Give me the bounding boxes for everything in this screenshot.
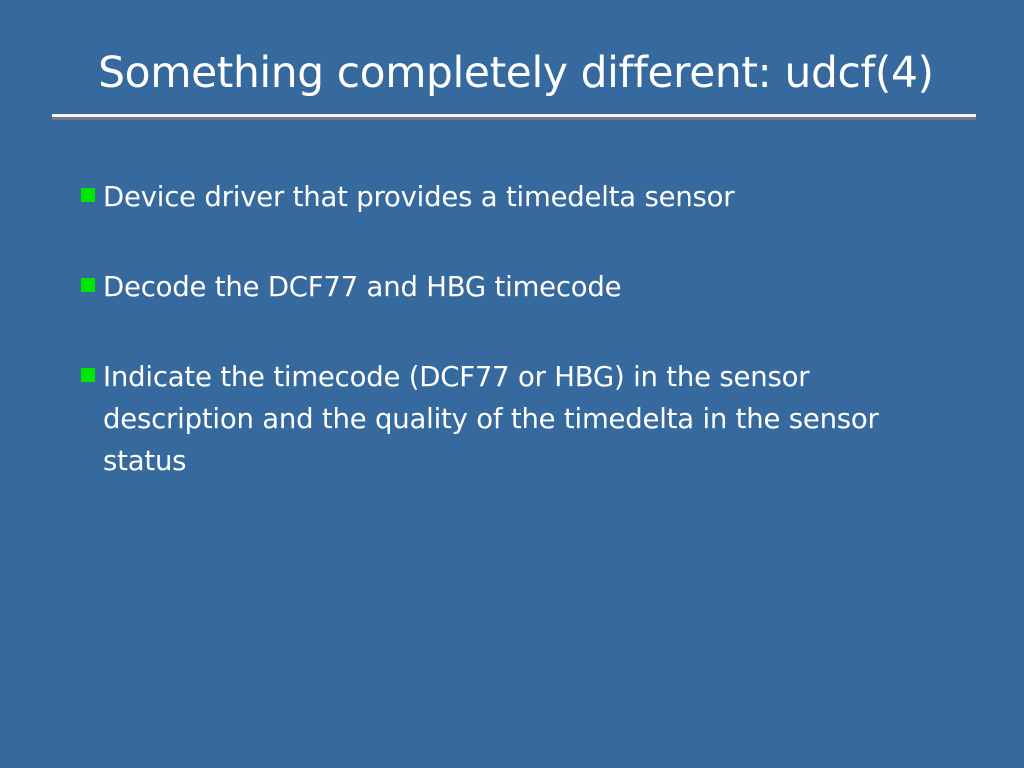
title-rule-shadow: [52, 117, 976, 120]
title-block: Something completely different: udcf(4): [52, 48, 976, 98]
list-item-label: Device driver that provides a timedelta …: [103, 176, 933, 218]
green-square-bullet-icon: [81, 188, 95, 202]
list-item: Device driver that provides a timedelta …: [81, 176, 961, 218]
bullet-list: Device driver that provides a timedelta …: [81, 176, 961, 482]
presentation-slide: Something completely different: udcf(4) …: [0, 0, 1024, 768]
green-square-bullet-icon: [81, 278, 95, 292]
page-title: Something completely different: udcf(4): [52, 48, 962, 98]
list-item: Decode the DCF77 and HBG timecode: [81, 266, 961, 308]
list-item-label: Decode the DCF77 and HBG timecode: [103, 266, 933, 308]
list-item-label: Indicate the timecode (DCF77 or HBG) in …: [103, 356, 931, 482]
list-item: Indicate the timecode (DCF77 or HBG) in …: [81, 356, 961, 482]
green-square-bullet-icon: [81, 368, 95, 382]
title-underline-rule: [52, 114, 976, 120]
